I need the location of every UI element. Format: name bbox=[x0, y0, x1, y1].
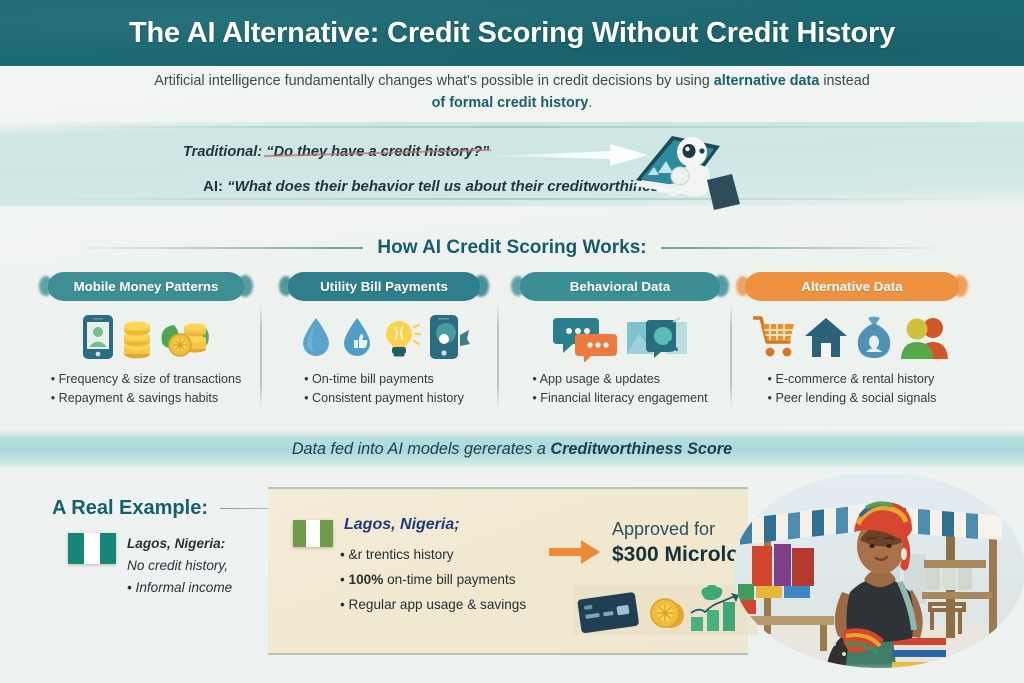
divider-right bbox=[661, 247, 951, 249]
icon-row-mobile-money bbox=[30, 310, 262, 364]
pill-label: Behavioral Data bbox=[570, 279, 671, 294]
orange-arrow bbox=[549, 539, 601, 565]
example-detail-panel: Lagos, Nigeria; &r trentics history 100%… bbox=[268, 487, 748, 655]
credit-card-coins-growth-chart-illustration bbox=[573, 585, 758, 641]
panel-bullet-text: on-time bill payments bbox=[383, 572, 515, 587]
traditional-question-row: Traditional: “Do they have a credit hist… bbox=[183, 144, 489, 160]
house-icon bbox=[804, 315, 848, 359]
ai-robot-laptop-illustration bbox=[628, 118, 748, 210]
bullet-item: Consistent payment history bbox=[304, 389, 464, 408]
subtitle-seg-a: Artificial intelligence fundamentally ch… bbox=[154, 73, 714, 89]
left-example-heading: Lagos, Nigeria: bbox=[127, 533, 232, 555]
infographic-canvas: The AI Alternative: Credit Scoring Witho… bbox=[0, 0, 1024, 683]
water-drop-icon bbox=[299, 315, 333, 359]
bullets-utility: On-time bill payments Consistent payment… bbox=[304, 370, 464, 407]
bullet-item: On-time bill payments bbox=[304, 370, 464, 389]
panel-heading: Lagos, Nigeria; bbox=[344, 516, 460, 534]
column-behavioral-data: Behavioral Data bbox=[504, 272, 736, 407]
bullet-item: Financial literacy engagement bbox=[532, 389, 707, 408]
money-bag-icon bbox=[855, 314, 893, 360]
water-drop-thumbsup-icon bbox=[340, 315, 374, 359]
coin-stack-icon bbox=[122, 315, 152, 359]
bullets-behavioral: App usage & updates Financial literacy e… bbox=[532, 370, 707, 407]
nigeria-flag-icon bbox=[293, 520, 333, 547]
pill-label: Mobile Money Patterns bbox=[74, 279, 219, 294]
example-title: A Real Example: bbox=[52, 497, 208, 520]
smartphone-payment-icon bbox=[428, 313, 470, 361]
subtitle-seg-b: instead bbox=[819, 73, 869, 89]
page-title: The AI Alternative: Credit Scoring Witho… bbox=[129, 17, 895, 50]
two-people-icon bbox=[900, 315, 952, 359]
bullet-item: E-commerce & rental history bbox=[768, 370, 937, 389]
left-example-block: Lagos, Nigeria: No credit history, • Inf… bbox=[68, 533, 232, 599]
panel-bullet-bold: 100% bbox=[349, 572, 384, 587]
panel-bullet-text: &r trentics history bbox=[349, 547, 454, 562]
subtitle-seg-c: . bbox=[588, 95, 592, 111]
pill-behavioral-data: Behavioral Data bbox=[520, 272, 720, 301]
header-band: The AI Alternative: Credit Scoring Witho… bbox=[0, 0, 1024, 66]
panel-bullet-item: Regular app usage & savings bbox=[340, 592, 526, 617]
panel-bullet-item: 100% on-time bill payments bbox=[340, 567, 526, 592]
bullet-item: Frequency & size of transactions bbox=[51, 370, 242, 389]
bullet-item: Repayment & savings habits bbox=[51, 389, 242, 408]
chat-bubbles-icon bbox=[553, 312, 619, 362]
ai-label: AI: bbox=[203, 178, 223, 195]
column-mobile-money-patterns: Mobile Money Patterns bbox=[30, 272, 262, 407]
mid-banner-prefix: Data fed into AI models gererates a bbox=[292, 440, 551, 458]
subtitle-highlight-1: alternative data bbox=[714, 73, 820, 89]
white-arrow bbox=[490, 142, 650, 168]
data-source-columns: Mobile Money Patterns bbox=[0, 272, 1024, 414]
icon-row-utility bbox=[268, 310, 500, 364]
app-window-search-icon bbox=[626, 312, 688, 362]
mid-banner-emphasis: Creditworthiness Score bbox=[550, 440, 732, 458]
panel-bullet-list: &r trentics history 100% on-time bill pa… bbox=[340, 542, 526, 617]
nigeria-flag-icon bbox=[68, 533, 116, 564]
subtitle-text: Artificial intelligence fundamentally ch… bbox=[0, 70, 1024, 114]
divider-left bbox=[73, 247, 363, 249]
column-alternative-data: Alternative Data bbox=[736, 272, 968, 407]
traditional-label: Traditional: bbox=[183, 144, 262, 160]
subtitle-line-2: of formal credit history. bbox=[0, 92, 1024, 114]
bullets-mobile-money: Frequency & size of transactions Repayme… bbox=[51, 370, 242, 407]
bullets-alternative: E-commerce & rental history Peer lending… bbox=[768, 370, 937, 407]
creditworthiness-score-banner: Data fed into AI models gererates a Cred… bbox=[0, 430, 1024, 468]
icon-row-behavioral bbox=[504, 310, 736, 364]
coins-with-leaves-icon bbox=[159, 313, 211, 361]
ai-quote-text: “What does their behavior tell us about … bbox=[227, 178, 684, 195]
panel-bullet-item: &r trentics history bbox=[340, 542, 526, 567]
lightbulb-icon bbox=[381, 314, 421, 360]
pill-alternative-data: Alternative Data bbox=[745, 272, 959, 301]
pill-label: Alternative Data bbox=[801, 279, 902, 294]
subtitle-highlight-2: of formal credit history bbox=[432, 95, 589, 111]
works-section-title: How AI Credit Scoring Works: bbox=[377, 237, 646, 259]
mobile-phone-user-icon bbox=[81, 313, 115, 361]
pill-mobile-money-patterns: Mobile Money Patterns bbox=[48, 272, 244, 301]
bullet-item: App usage & updates bbox=[532, 370, 707, 389]
works-section-title-row: How AI Credit Scoring Works: bbox=[0, 236, 1024, 260]
left-example-line-3: • Informal income bbox=[127, 577, 232, 599]
column-utility-bill-payments: Utility Bill Payments bbox=[268, 272, 500, 407]
traditional-quote-struck: “Do they have a credit history?” bbox=[266, 144, 489, 160]
panel-bullet-text: Regular app usage & savings bbox=[349, 597, 527, 612]
mid-banner-text: Data fed into AI models gererates a Cred… bbox=[292, 440, 732, 459]
pill-utility-bill-payments: Utility Bill Payments bbox=[288, 272, 480, 301]
subtitle-line-1: Artificial intelligence fundamentally ch… bbox=[0, 70, 1024, 92]
pill-label: Utility Bill Payments bbox=[320, 279, 448, 294]
left-example-line-2: No credit history, bbox=[127, 555, 232, 577]
shopping-cart-icon bbox=[753, 314, 797, 360]
icon-row-alternative bbox=[736, 310, 968, 364]
bullet-item: Peer lending & social signals bbox=[768, 389, 937, 408]
ai-question-row: AI: “What does their behavior tell us ab… bbox=[203, 178, 684, 195]
left-example-lines: Lagos, Nigeria: No credit history, • Inf… bbox=[127, 533, 232, 599]
market-vendor-woman-photo bbox=[734, 474, 1024, 670]
